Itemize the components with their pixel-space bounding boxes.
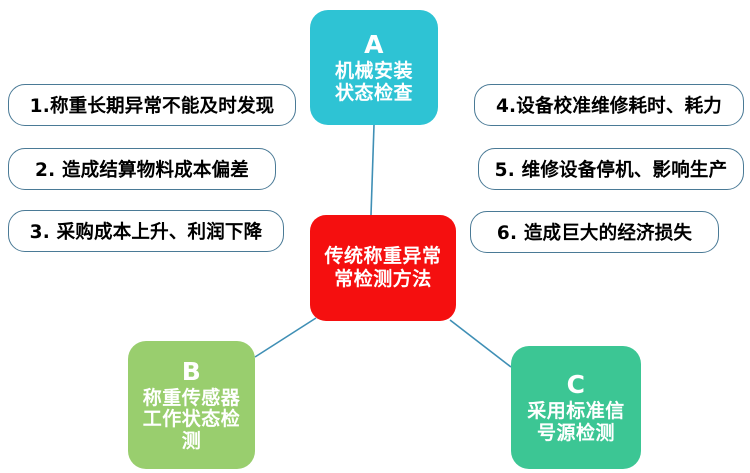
node-center-label: 传统称重异常 常检测方法 <box>324 245 441 291</box>
connector-a-to-center <box>371 125 374 215</box>
node-c-letter: C <box>567 371 586 399</box>
list-item-right-5[interactable]: 5. 维修设备停机、影响生产 <box>478 148 744 190</box>
node-center-traditional-method[interactable]: 传统称重异常 常检测方法 <box>310 215 456 321</box>
node-b-load-cell-status[interactable]: B 称重传感器 工作状态检 测 <box>128 341 255 469</box>
node-a-letter: A <box>364 31 384 59</box>
node-c-label: 采用标准信 号源检测 <box>527 401 625 444</box>
list-item-right-4[interactable]: 4.设备校准维修耗时、耗力 <box>474 84 744 126</box>
node-c-standard-signal-source[interactable]: C 采用标准信 号源检测 <box>511 346 641 469</box>
node-b-letter: B <box>182 358 202 386</box>
connector-c-to-center <box>450 320 511 367</box>
list-item-left-1[interactable]: 1.称重长期异常不能及时发现 <box>8 84 296 126</box>
node-a-mechanical-installation[interactable]: A 机械安装 状态检查 <box>310 10 438 125</box>
list-item-left-3[interactable]: 3. 采购成本上升、利润下降 <box>8 210 284 252</box>
diagram-canvas: A 机械安装 状态检查 传统称重异常 常检测方法 B 称重传感器 工作状态检 测… <box>0 0 750 473</box>
node-b-label: 称重传感器 工作状态检 测 <box>143 388 241 452</box>
connector-b-to-center <box>255 318 316 357</box>
node-a-label: 机械安装 状态检查 <box>335 61 413 104</box>
list-item-right-6[interactable]: 6. 造成巨大的经济损失 <box>470 211 719 253</box>
list-item-left-2[interactable]: 2. 造成结算物料成本偏差 <box>8 148 276 190</box>
